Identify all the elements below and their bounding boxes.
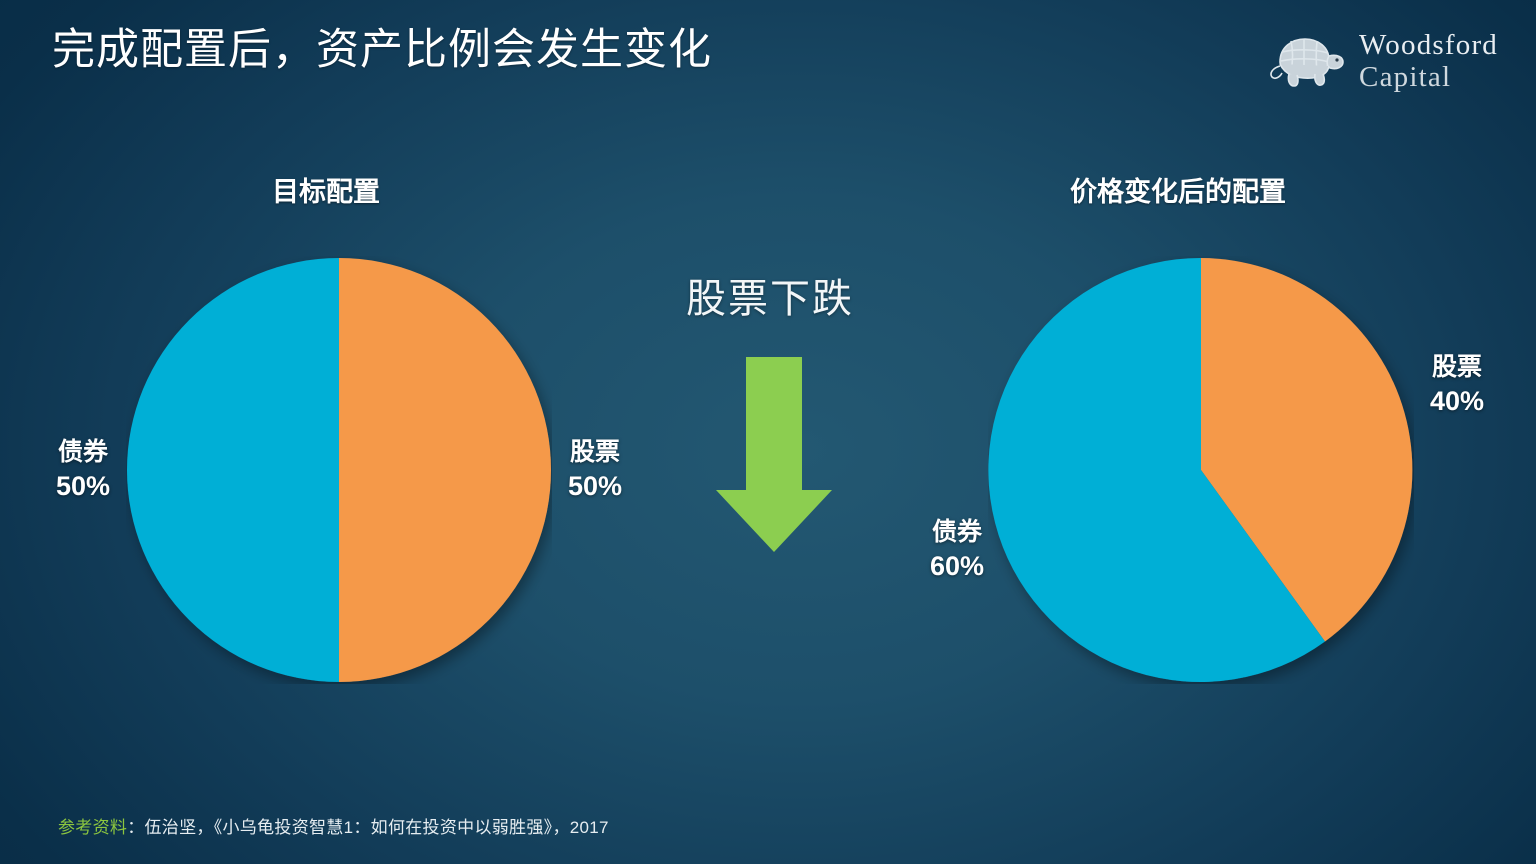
pie-label-bonds-right-name: 债券 [898,517,1016,548]
page-title: 完成配置后，资产比例会发生变化 [52,26,712,76]
pie-label-stocks-right-value: 40% [1398,383,1516,419]
transition-label: 股票下跌 [640,266,900,324]
turtle-icon [1267,28,1345,95]
source-footnote: 参考资料：伍治坚，《小乌龟投资智慧1：如何在投资中以弱胜强》，2017 [58,813,609,838]
pie-chart-target-allocation [126,256,552,684]
chart-title-target-allocation: 目标配置 [272,170,380,209]
source-body: ：伍治坚，《小乌龟投资智慧1：如何在投资中以弱胜强》，2017 [127,818,609,837]
pie-chart-after-price-change [988,256,1414,684]
brand-name-line1: Woodsford [1359,31,1498,60]
pie-label-stocks-right-name: 股票 [1398,352,1516,383]
arrow-down-icon [714,357,834,552]
pie-label-stocks-left-name: 股票 [536,437,654,468]
chart-title-after-price-change: 价格变化后的配置 [1070,170,1286,209]
pie-label-bonds-right: 债券 60% [898,517,1016,585]
pie-slice-bonds [127,258,339,682]
brand-logo: Woodsford Capital [1267,28,1498,95]
pie-label-stocks-left: 股票 50% [536,437,654,505]
pie-slice-stocks [339,258,551,682]
pie-label-bonds-left-name: 债券 [24,437,142,468]
slide-canvas: 完成配置后，资产比例会发生变化 [0,0,1536,864]
source-label: 参考资料 [58,818,127,837]
pie-label-bonds-left-value: 50% [24,468,142,504]
pie-label-bonds-left: 债券 50% [24,437,142,505]
pie-label-bonds-right-value: 60% [898,548,1016,584]
brand-wordmark: Woodsford Capital [1359,31,1498,92]
pie-label-stocks-right: 股票 40% [1398,352,1516,420]
pie-label-stocks-left-value: 50% [536,468,654,504]
brand-name-line2: Capital [1359,63,1498,92]
